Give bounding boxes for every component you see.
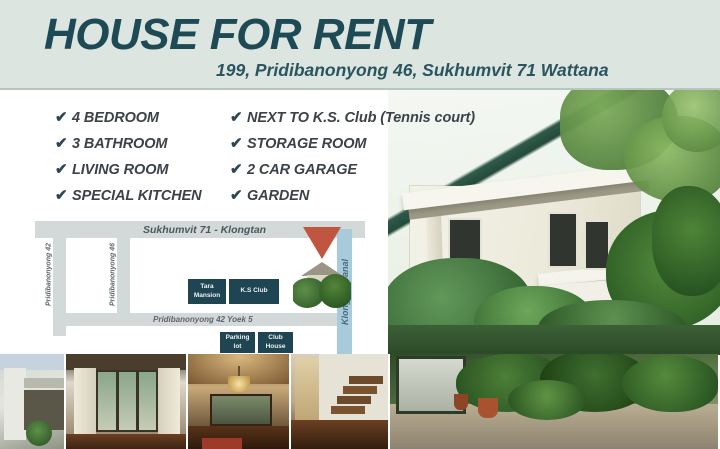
feature-label: SPECIAL KITCHEN <box>72 188 202 204</box>
photo-roof-slab <box>24 378 66 388</box>
map-landmark-tara-mansion: Tara Mansion <box>187 278 227 305</box>
feature-item: ✔ SPECIAL KITCHEN <box>55 188 202 214</box>
check-icon: ✔ <box>55 110 72 125</box>
house-for-rent-poster: HOUSE FOR RENT 199, Pridibanonyong 46, S… <box>0 0 720 449</box>
feature-label: 3 BATHROOM <box>72 136 167 152</box>
location-map: Sukhumvit 71 - Klongtan Pridibanonyong 4… <box>35 221 365 354</box>
address-subtitle: 199, Pridibanonyong 46, Sukhumvit 71 Wat… <box>216 60 609 81</box>
feature-label: STORAGE ROOM <box>247 136 366 152</box>
road-label-yoek-5: Pridibanonyong 42 Yoek 5 <box>153 315 253 324</box>
feature-column-left: ✔ 4 BEDROOM ✔ 3 BATHROOM ✔ LIVING ROOM ✔… <box>55 110 202 214</box>
photo-glass-doors <box>96 370 158 432</box>
photo-wood-floor <box>291 420 390 449</box>
road-pridibanonyong-42 <box>53 235 66 336</box>
check-icon: ✔ <box>230 188 247 203</box>
hero-window <box>548 212 578 268</box>
check-icon: ✔ <box>230 136 247 151</box>
photo-chandelier <box>228 376 250 392</box>
road-label-pridibanonyong-46: Pridibanonyong 46 <box>110 239 117 311</box>
map-landmark-ks-club: K.S Club <box>228 278 280 305</box>
photo-living-room <box>66 354 188 449</box>
feature-label: 4 BEDROOM <box>72 110 159 126</box>
photo-curtain <box>158 368 180 436</box>
feature-item: ✔ 2 CAR GARAGE <box>230 162 475 188</box>
photo-stair-tread <box>343 386 377 394</box>
photo-staircase <box>291 354 390 449</box>
check-icon: ✔ <box>230 162 247 177</box>
photo-garden-terrace <box>390 354 718 449</box>
map-landmark-parking-lot: Parking lot <box>219 331 256 354</box>
property-location-marker-icon <box>303 227 341 259</box>
photo-stair-tread <box>337 396 371 404</box>
hero-foreground-foliage <box>388 325 720 355</box>
road-label-pridibanonyong-42: Pridibanonyong 42 <box>46 239 53 311</box>
check-icon: ✔ <box>55 188 72 203</box>
feature-item: ✔ 4 BEDROOM <box>55 110 202 136</box>
map-property-thumbnail <box>293 256 351 308</box>
photo-flower-pot <box>454 394 468 410</box>
header-band: HOUSE FOR RENT 199, Pridibanonyong 46, S… <box>0 0 720 89</box>
photo-flower-pot <box>478 398 498 418</box>
photo-window-mullion <box>116 370 119 432</box>
hero-palm <box>652 186 720 296</box>
photo-shrub <box>508 380 586 420</box>
photo-wood-floor <box>66 434 188 449</box>
photo-curtain <box>74 368 96 436</box>
feature-item: ✔ GARDEN <box>230 188 475 214</box>
photo-window-mullion <box>136 370 139 432</box>
photo-stair-tread <box>331 406 365 414</box>
photo-shrub <box>622 356 718 412</box>
photo-dining-room <box>188 354 291 449</box>
check-icon: ✔ <box>230 110 247 125</box>
photo-wall <box>4 368 26 440</box>
map-house-foliage <box>319 274 351 308</box>
feature-label: NEXT TO K.S. Club (Tennis court) <box>247 110 475 126</box>
feature-item: ✔ STORAGE ROOM <box>230 136 475 162</box>
feature-item: ✔ 3 BATHROOM <box>55 136 202 162</box>
feature-column-right: ✔ NEXT TO K.S. Club (Tennis court) ✔ STO… <box>230 110 475 214</box>
photo-window <box>210 394 272 426</box>
photo-plant <box>26 420 52 446</box>
photo-strip <box>0 354 720 449</box>
photo-red-rug <box>202 438 242 449</box>
page-title: HOUSE FOR RENT <box>44 12 431 58</box>
road-pridibanonyong-46 <box>117 235 130 326</box>
feature-label: 2 CAR GARAGE <box>247 162 357 178</box>
feature-item: ✔ NEXT TO K.S. Club (Tennis court) <box>230 110 475 136</box>
road-label-sukhumvit-71: Sukhumvit 71 - Klongtan <box>143 224 266 236</box>
feature-label: LIVING ROOM <box>72 162 168 178</box>
check-icon: ✔ <box>55 136 72 151</box>
feature-item: ✔ LIVING ROOM <box>55 162 202 188</box>
photo-stair-tread <box>349 376 383 384</box>
check-icon: ✔ <box>55 162 72 177</box>
feature-label: GARDEN <box>247 188 309 204</box>
map-landmark-club-house: Club House <box>257 331 294 354</box>
photo-exterior-carport <box>0 354 66 449</box>
